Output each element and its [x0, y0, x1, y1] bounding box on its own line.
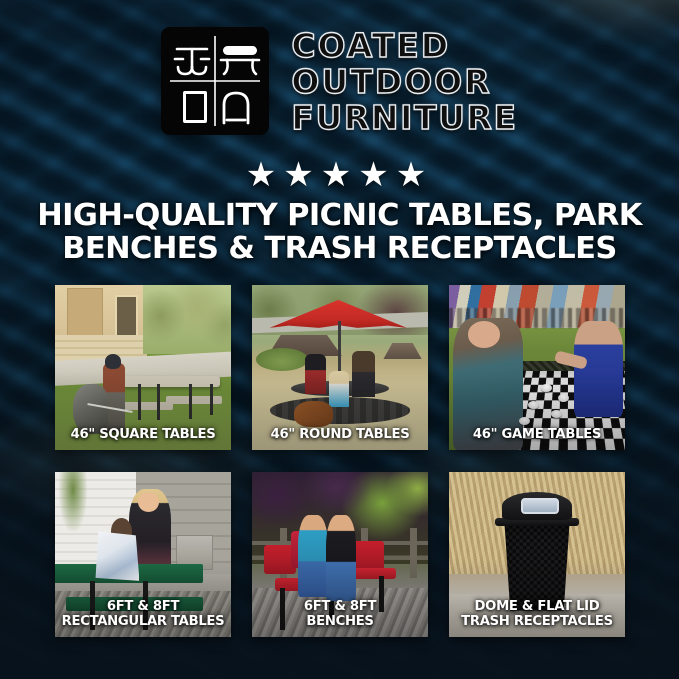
product-tile-square-tables[interactable]: 46" SQUARE TABLES [55, 285, 231, 450]
brand-logo: COATED OUTDOOR FURNITURE [0, 27, 679, 135]
caption-line-1: 6FT & 8FT [304, 599, 376, 614]
caption-line-1: 6FT & 8FT [107, 599, 179, 614]
logo-icon-grid [161, 27, 269, 135]
wordmark-line-1: COATED [291, 28, 450, 63]
product-caption: DOME & FLAT LID TRASH RECEPTACLES [453, 599, 621, 629]
tile-shade [252, 285, 428, 450]
caption-line-2: BENCHES [256, 614, 424, 629]
tile-shade [55, 285, 231, 450]
product-caption: 6FT & 8FT BENCHES [256, 599, 424, 629]
marketing-poster: COATED OUTDOOR FURNITURE ★★★★★ HIGH-QUAL… [0, 0, 679, 679]
star-rating: ★★★★★ [0, 158, 679, 192]
caption-line-2: TRASH RECEPTACLES [453, 614, 621, 629]
headline-line-2: BENCHES & TRASH RECEPTACLES [26, 232, 653, 265]
product-tile-benches[interactable]: 6FT & 8FT BENCHES [252, 472, 428, 637]
caption-line-2: RECTANGULAR TABLES [59, 614, 227, 629]
product-grid: 46" SQUARE TABLES 46" ROUND TABLES [55, 285, 625, 637]
product-caption: 46" SQUARE TABLES [59, 427, 227, 442]
product-tile-rectangular-tables[interactable]: 6FT & 8FT RECTANGULAR TABLES [55, 472, 231, 637]
product-tile-game-tables[interactable]: 46" GAME TABLES [449, 285, 625, 450]
product-caption: 46" GAME TABLES [453, 427, 621, 442]
trash-receptacle-icon [183, 91, 207, 123]
wordmark-line-3: FURNITURE [291, 100, 517, 135]
product-tile-trash-receptacles[interactable]: DOME & FLAT LID TRASH RECEPTACLES [449, 472, 625, 637]
product-tile-round-tables[interactable]: 46" ROUND TABLES [252, 285, 428, 450]
wordmark-line-2: OUTDOOR [291, 64, 491, 99]
product-caption: 6FT & 8FT RECTANGULAR TABLES [59, 599, 227, 629]
caption-line-1: 46" GAME TABLES [473, 427, 601, 442]
headline-line-1: HIGH-QUALITY PICNIC TABLES, PARK [26, 199, 653, 232]
product-caption: 46" ROUND TABLES [256, 427, 424, 442]
caption-line-1: DOME & FLAT LID [475, 599, 600, 614]
caption-line-1: 46" ROUND TABLES [271, 427, 410, 442]
tile-shade [449, 285, 625, 450]
headline: HIGH-QUALITY PICNIC TABLES, PARK BENCHES… [26, 199, 653, 265]
brand-wordmark: COATED OUTDOOR FURNITURE [291, 27, 517, 135]
caption-line-1: 46" SQUARE TABLES [71, 427, 216, 442]
